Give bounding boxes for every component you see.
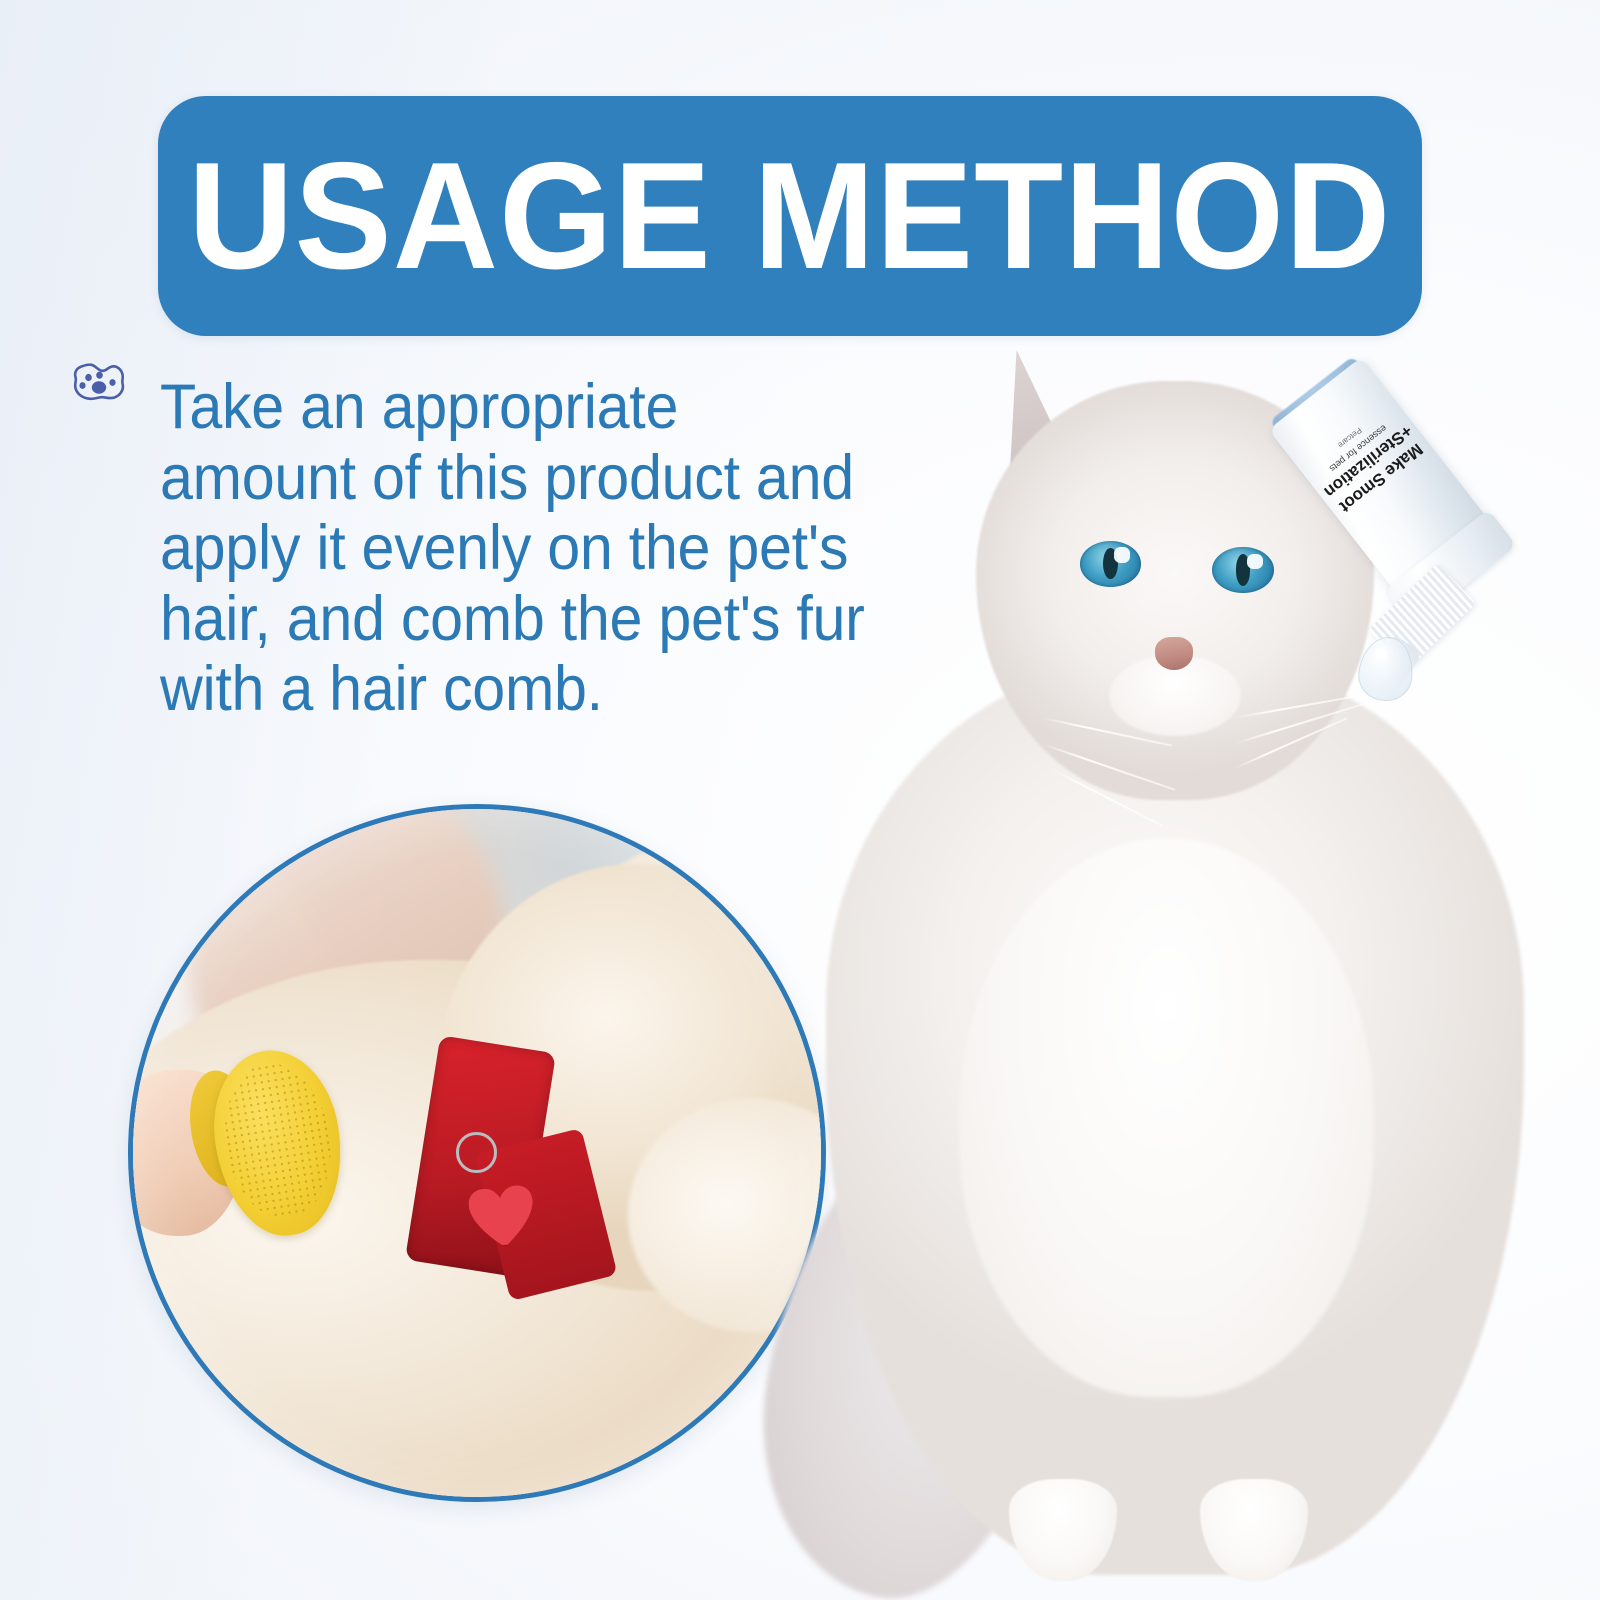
grooming-photo-circle (128, 804, 826, 1502)
drop-glint (1375, 648, 1387, 659)
usage-method-poster: USAGE METHOD Take an appropriate amount … (0, 0, 1600, 1600)
grooming-photo (133, 809, 821, 1497)
paw-print-icon (71, 350, 127, 402)
eye-glint (1114, 547, 1130, 563)
usage-method-banner: USAGE METHOD (158, 96, 1422, 336)
collar-ring (456, 1132, 496, 1172)
finger (128, 1138, 130, 1153)
cat-chest-ruff (959, 838, 1374, 1397)
page-title: USAGE METHOD (188, 140, 1391, 292)
cat-eye-left (1080, 541, 1141, 587)
